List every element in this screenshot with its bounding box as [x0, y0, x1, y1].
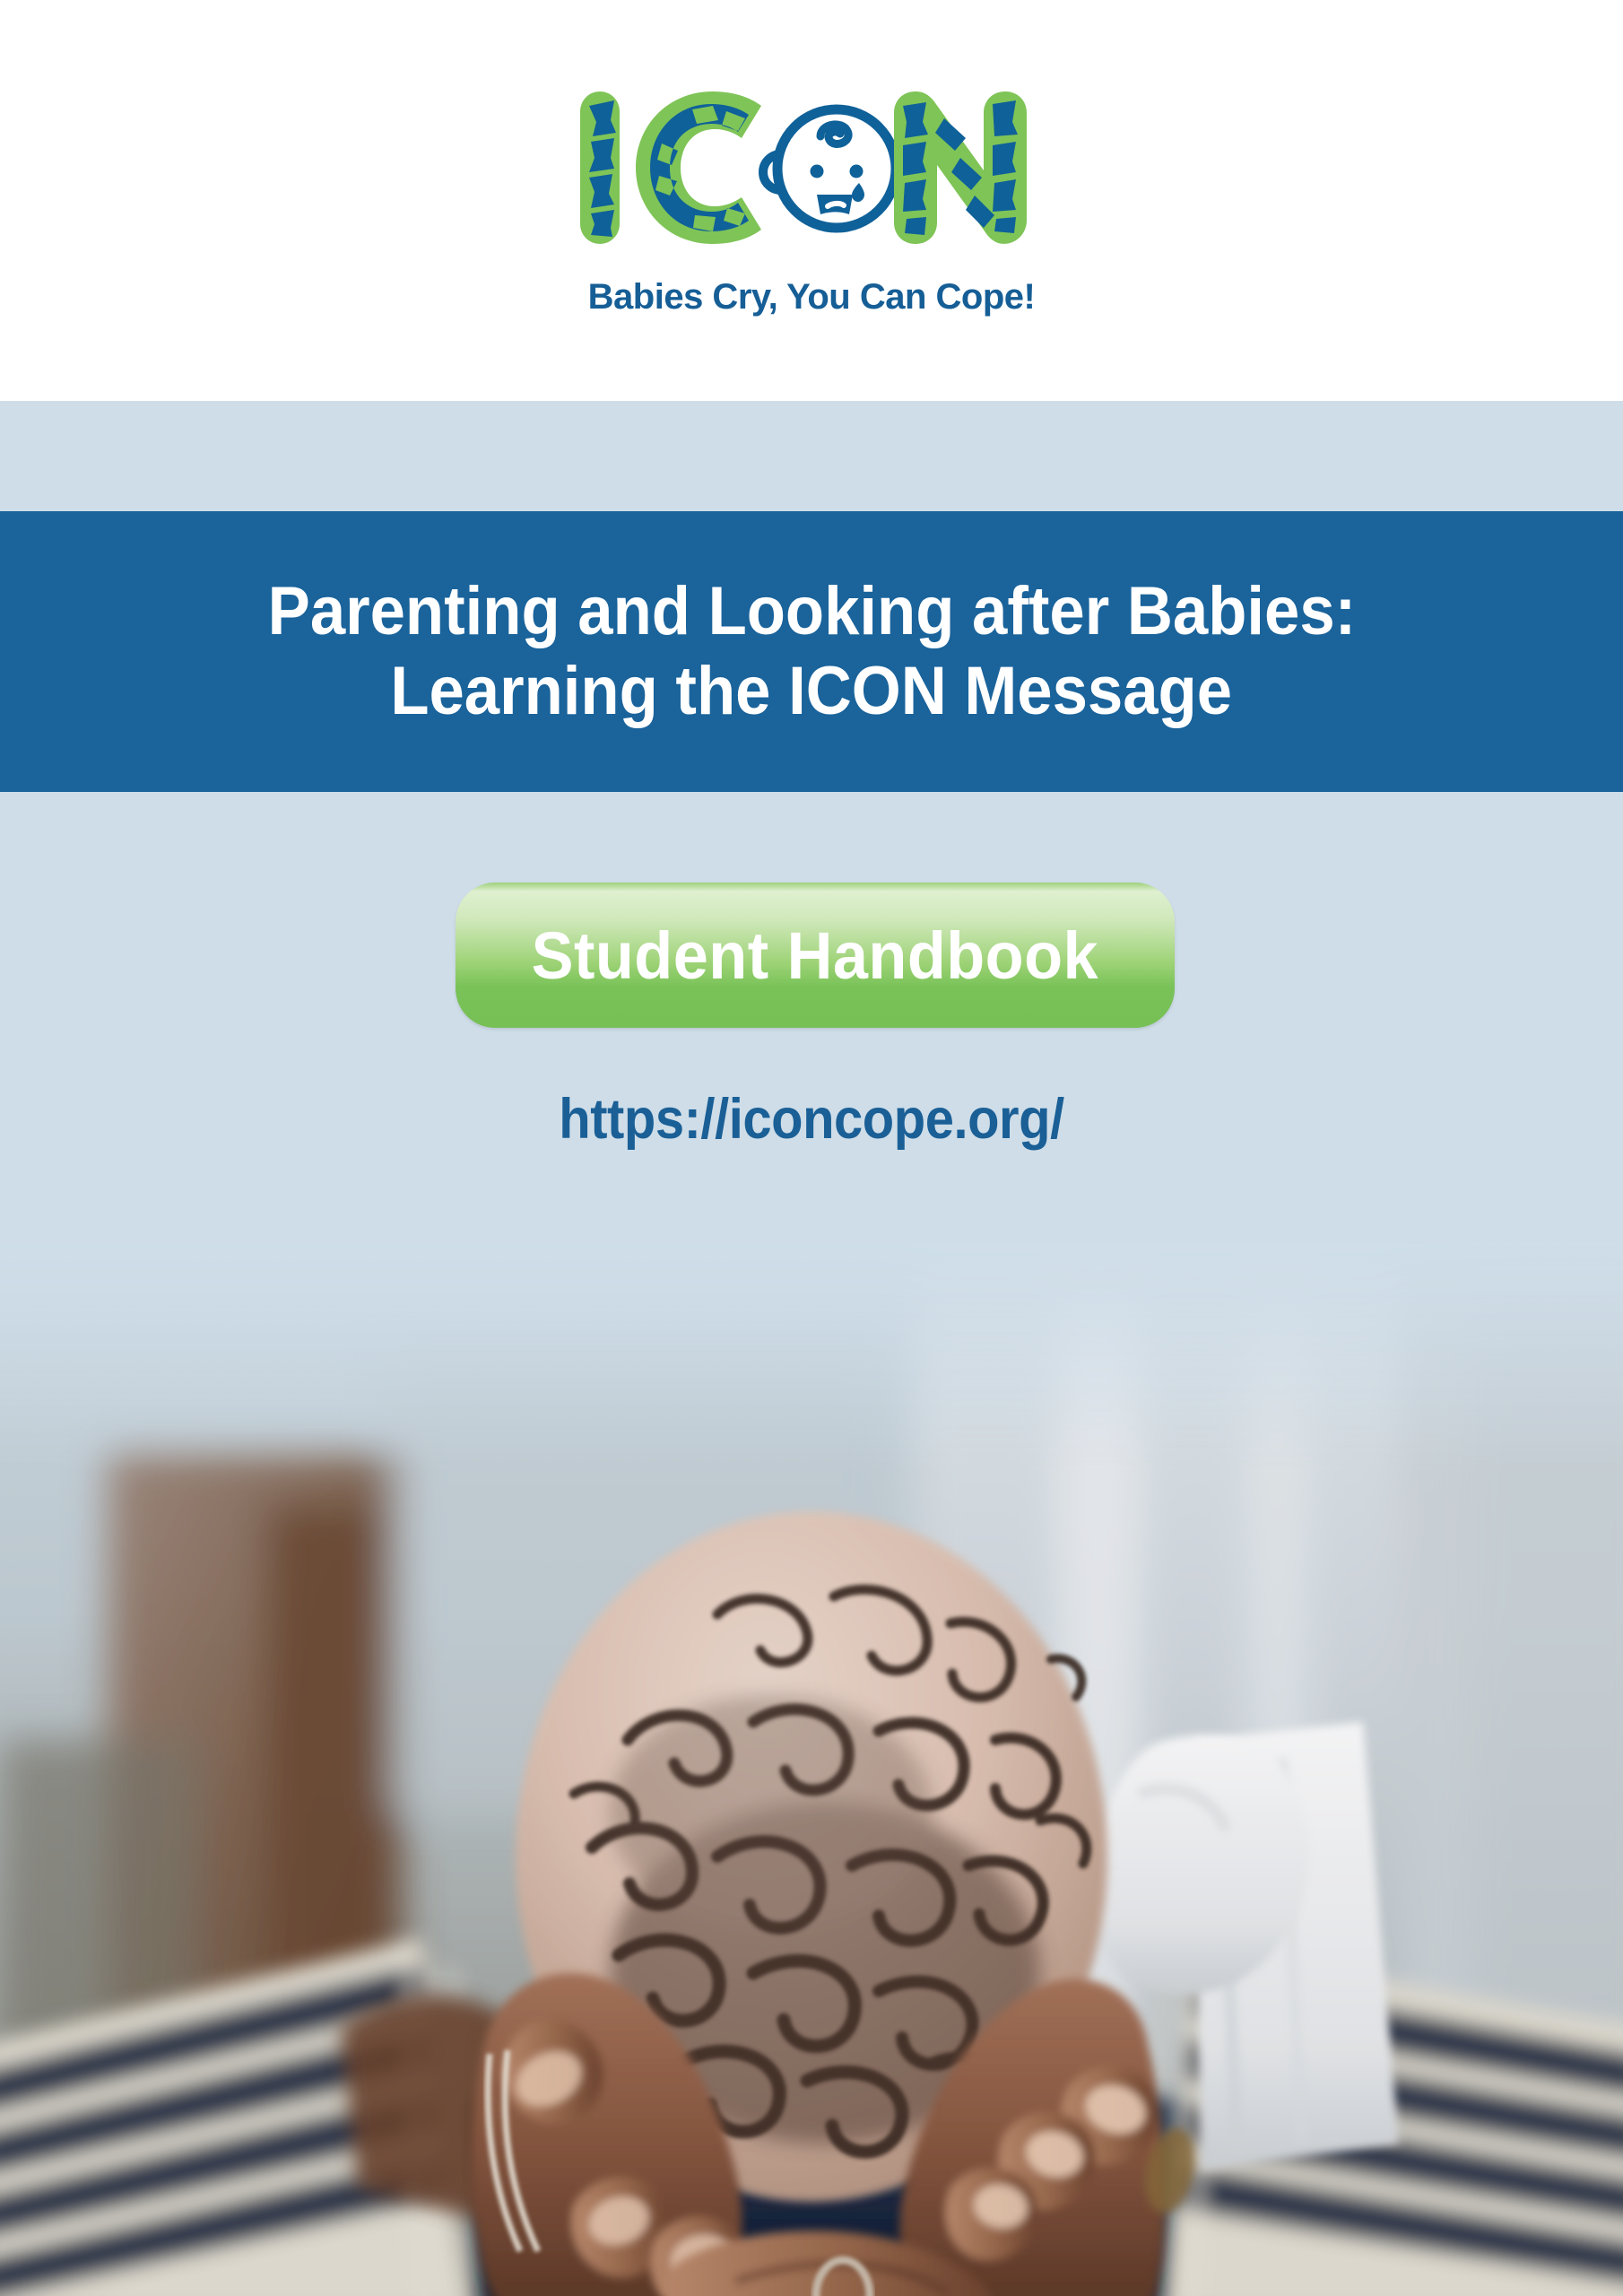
logo-band: Babies Cry, You Can Cope!: [0, 0, 1623, 401]
student-handbook-button[interactable]: Student Handbook: [456, 883, 1175, 1028]
cover-photo: [0, 1238, 1623, 2296]
logo-letter-n: [894, 91, 1027, 244]
site-url-link[interactable]: https://iconcope.org/: [65, 1087, 1558, 1152]
logo-letter-i: [580, 91, 620, 244]
student-handbook-button-label: Student Handbook: [532, 918, 1098, 994]
logo-letter-c: [636, 91, 761, 244]
title-line-2: Learning the ICON Message: [391, 652, 1233, 731]
title-line-1: Parenting and Looking after Babies:: [267, 572, 1356, 651]
icon-logo: [569, 83, 1054, 257]
crying-baby-face-icon: [763, 109, 910, 228]
title-banner: Parenting and Looking after Babies: Lear…: [0, 511, 1623, 792]
logo-tagline: Babies Cry, You Can Cope!: [588, 277, 1036, 317]
handbook-cover-page: Babies Cry, You Can Cope! Parenting and …: [0, 0, 1623, 2296]
